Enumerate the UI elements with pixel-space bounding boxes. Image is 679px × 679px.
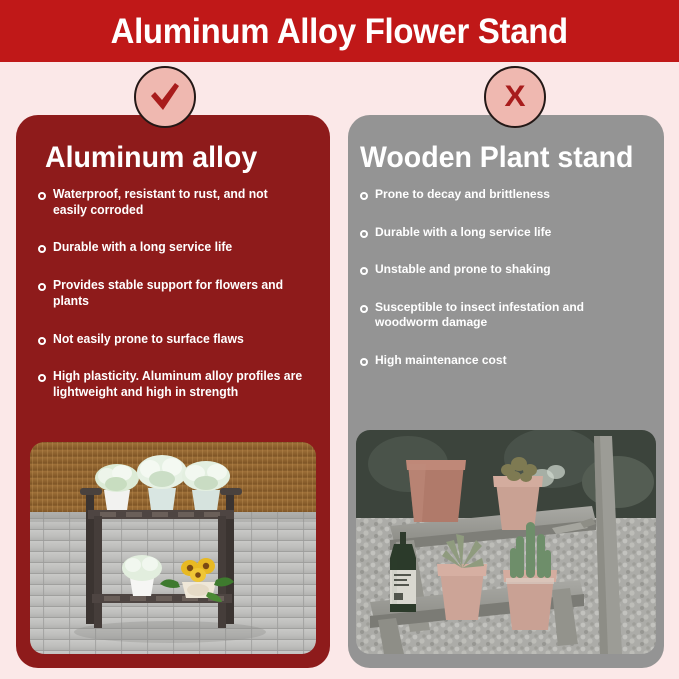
list-item-label: Provides stable support for flowers and …: [53, 278, 304, 309]
feature-list-left: Waterproof, resistant to rust, and not e…: [16, 187, 330, 423]
list-item: Waterproof, resistant to rust, and not e…: [38, 187, 312, 218]
bullet-dot-icon: [38, 374, 46, 382]
bullet-dot-icon: [360, 192, 368, 200]
bullet-dot-icon: [360, 267, 368, 275]
list-item-label: High maintenance cost: [375, 353, 507, 369]
list-item: High maintenance cost: [360, 353, 656, 369]
list-item: Provides stable support for flowers and …: [38, 278, 312, 309]
bullet-dot-icon: [38, 245, 46, 253]
list-item-label: Durable with a long service life: [375, 225, 551, 241]
bullet-dot-icon: [38, 192, 46, 200]
negative-verdict-badge: X: [484, 66, 546, 128]
list-item: Not easily prone to surface flaws: [38, 332, 312, 348]
bullet-dot-icon: [38, 283, 46, 291]
list-item-label: Durable with a long service life: [53, 240, 232, 256]
card-title-left: Aluminum alloy: [45, 143, 257, 173]
cross-mark-icon: X: [504, 82, 525, 112]
bullet-dot-icon: [360, 305, 368, 313]
list-item-label: Unstable and prone to shaking: [375, 262, 551, 278]
comparison-card-wooden: Wooden Plant stand Prone to decay and br…: [348, 115, 664, 668]
list-item-label: Not easily prone to surface flaws: [53, 332, 244, 348]
bullet-dot-icon: [360, 230, 368, 238]
comparison-card-aluminum: Aluminum alloy Waterproof, resistant to …: [16, 115, 330, 668]
product-photo-wooden-stand: [356, 430, 656, 654]
page-header: Aluminum Alloy Flower Stand: [0, 0, 679, 62]
feature-list-right: Prone to decay and brittleness Durable w…: [348, 187, 664, 390]
bullet-dot-icon: [360, 358, 368, 366]
list-item: Durable with a long service life: [360, 225, 656, 241]
bullet-dot-icon: [38, 337, 46, 345]
list-item-label: Waterproof, resistant to rust, and not e…: [53, 187, 304, 218]
list-item: High plasticity. Aluminum alloy profiles…: [38, 369, 312, 400]
check-mark-icon: [148, 81, 182, 113]
list-item: Prone to decay and brittleness: [360, 187, 656, 203]
product-photo-aluminum-stand: [30, 442, 316, 654]
positive-verdict-badge: [134, 66, 196, 128]
list-item: Durable with a long service life: [38, 240, 312, 256]
page-title: Aluminum Alloy Flower Stand: [111, 14, 568, 49]
list-item-label: Prone to decay and brittleness: [375, 187, 550, 203]
list-item: Susceptible to insect infestation and wo…: [360, 300, 656, 331]
card-title-right: Wooden Plant stand: [360, 143, 633, 173]
list-item-label: Susceptible to insect infestation and wo…: [375, 300, 648, 331]
list-item: Unstable and prone to shaking: [360, 262, 656, 278]
list-item-label: High plasticity. Aluminum alloy profiles…: [53, 369, 304, 400]
